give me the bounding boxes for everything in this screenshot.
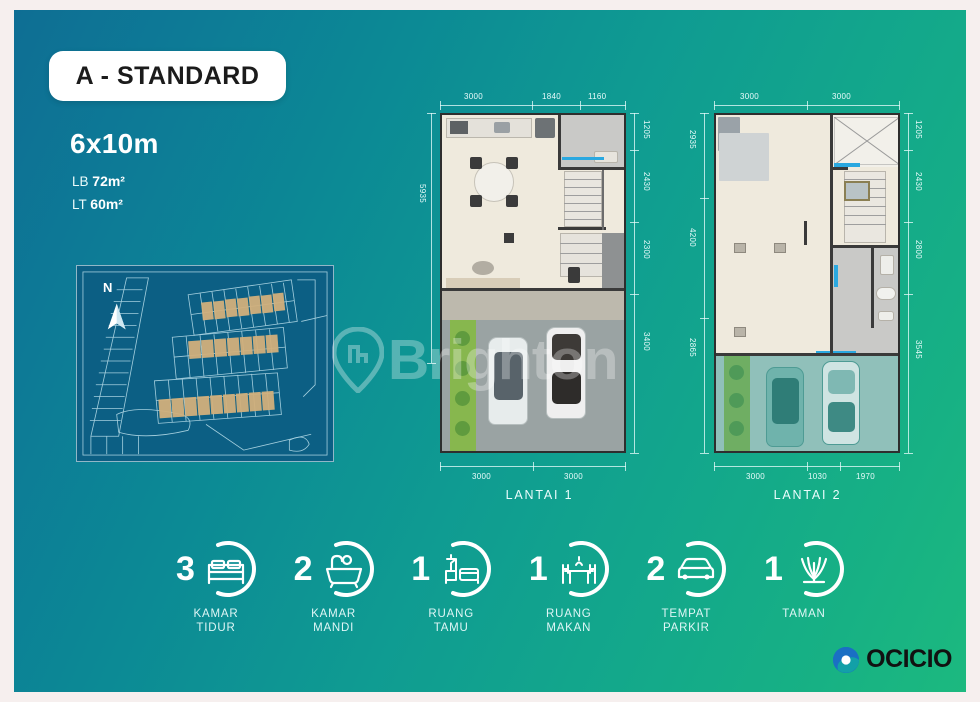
f2-sink-icon-2 [878,311,894,321]
f2-nightstand-3 [774,243,786,253]
f1-dim-right-1: 1205 [642,120,651,139]
feature-ring [666,539,726,599]
floor-2-plan: 3000 3000 2935 4200 2865 1205 2430 2800 … [680,88,935,508]
floor-2-drawing [714,113,900,453]
f1-dining-chair [470,195,482,207]
f1-coffee-table [472,261,494,275]
brand-name: OCICIO [866,645,952,674]
f2-dim-top-1: 3000 [740,92,759,101]
poster-canvas: A - STANDARD 6x10m LB 72m² LT 60m² [14,10,966,692]
f1-window [562,157,604,160]
f1-dim-bottom-2: 3000 [564,472,583,481]
dining-icon [549,539,609,599]
sofa-icon [431,539,491,599]
feature-ring [431,539,491,599]
f1-appliance [568,267,580,283]
feature-label: RUANG MAKAN [546,607,592,636]
feature-count: 2 [294,552,313,586]
feature-ring [549,539,609,599]
feature-ruang-tamu: 1 [395,538,507,636]
feature-label: TEMPAT PARKIR [662,607,712,636]
house-type-title-pill: A - STANDARD [49,51,286,101]
feature-count: 1 [529,552,548,586]
f2-dim-right-1: 1205 [914,120,923,139]
f2-car-1 [766,367,804,447]
f1-dim-top-3: 1160 [588,92,606,101]
f1-entry-floor [442,290,626,320]
lt-value: 60m² [90,196,123,212]
feature-count: 1 [764,552,783,586]
f2-dim-right-3: 2800 [914,240,923,259]
site-plan-map: N [76,265,334,462]
bed-icon [196,539,256,599]
f1-dim-left-1: 5935 [418,184,427,203]
location-pin-icon [332,327,384,393]
f1-side-table [504,233,514,243]
f2-dim-left-2: 4200 [688,228,697,247]
f2-dim-bottom-1: 3000 [746,472,765,481]
feature-ruang-makan: 1 [513,538,625,636]
f1-car-1 [488,337,528,425]
f1-dim-top-2: 1840 [542,92,561,101]
lb-label: LB [72,174,89,189]
brand-logo: OCICIO [832,645,952,674]
f2-nightstand-2 [734,243,746,253]
feature-ring [314,539,374,599]
f2-dim-bottom-2: 1030 [808,472,827,481]
feature-taman: 1 [748,538,860,621]
f2-dim-left-1: 2935 [688,130,697,149]
floor-1-caption: LANTAI 1 [412,488,667,502]
floor-1-drawing [440,113,626,453]
f1-dim-bottom-1: 3000 [472,472,491,481]
f1-service-area [602,233,626,290]
f1-stair-landing [560,233,604,277]
lt-label: LT [72,197,87,212]
floor-2-caption: LANTAI 2 [680,488,935,502]
f1-stove-icon [450,121,468,134]
floor-1-plan: 3000 1840 1160 5935 1205 2430 2300 3400 … [412,88,667,508]
f2-dim-right-2: 2430 [914,172,923,191]
f2-dim-bottom-3: 1970 [856,472,875,481]
ocicio-mark-icon [832,646,860,674]
feature-label: RUANG TAMU [428,607,474,636]
f2-toilet-icon-2 [876,287,896,300]
feature-ring [196,539,256,599]
feature-count: 3 [176,552,195,586]
feature-label: KAMAR TIDUR [194,607,239,636]
f1-dining-chair [506,195,518,207]
f2-dim-left-3: 2865 [688,338,697,357]
f2-stair-opening [844,181,870,201]
f1-sink-icon [494,122,510,133]
feature-list: 3 KAMAR TID [160,538,860,658]
page-title: A - STANDARD [76,62,260,91]
f2-nightstand-4 [734,327,746,337]
feature-kamar-mandi: 2 KAMAR MANDI [278,538,390,636]
feature-count: 2 [646,552,665,586]
f2-shower-icon [880,255,894,275]
f2-dim-top-2: 3000 [832,92,851,101]
bathtub-icon [314,539,374,599]
f1-dining-chair [470,157,482,169]
feature-tempat-parkir: 2 TEMPAT PARKIR [630,538,742,636]
f1-dim-right-2: 2430 [642,172,651,191]
feature-label: KAMAR MANDI [311,607,356,636]
f2-dim-right-4: 3545 [914,340,923,359]
feature-kamar-tidur: 3 KAMAR TID [160,538,272,636]
site-plan-drawing [77,266,333,461]
f2-car-2 [822,361,860,445]
f1-living-floor [442,115,560,290]
north-label: N [103,280,112,295]
building-area-line: LB 72m² [72,173,125,189]
feature-count: 1 [411,552,430,586]
lot-size-label: 6x10m [70,128,159,160]
feature-ring [784,539,844,599]
car-icon [666,539,726,599]
f1-dim-right-4: 3400 [642,332,651,351]
land-area-line: LT 60m² [72,196,123,212]
f1-fridge-icon [535,118,555,138]
f1-car-2 [546,327,586,419]
f1-dim-top-1: 3000 [464,92,483,101]
feature-label: TAMAN [782,607,825,621]
f2-void-hatch-icon [834,117,900,165]
f2-window-2 [834,265,838,287]
f1-dining-chair [506,157,518,169]
lb-value: 72m² [92,173,125,189]
plant-icon [784,539,844,599]
f1-dim-right-3: 2300 [642,240,651,259]
